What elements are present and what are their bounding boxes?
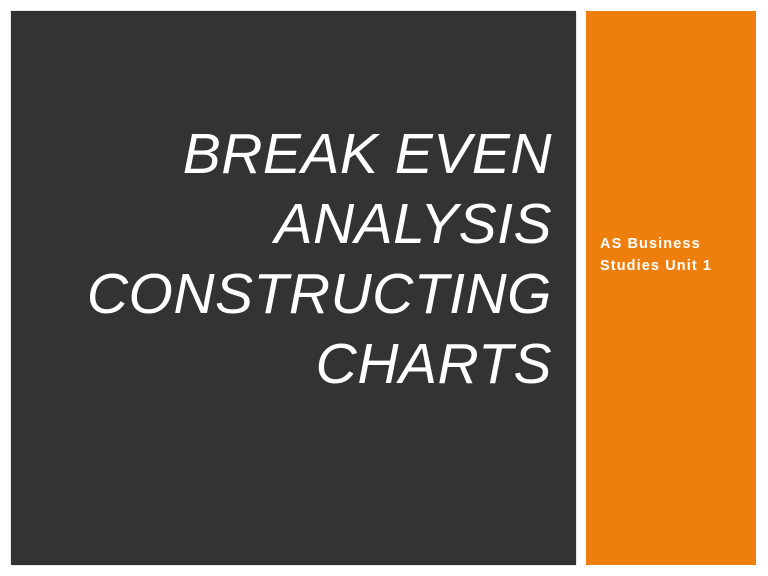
subtitle-line-1: AS Business: [600, 233, 746, 255]
slide-title: BREAK EVEN ANALYSIS CONSTRUCTING CHARTS: [31, 119, 552, 399]
slide-subtitle: AS Business Studies Unit 1: [600, 233, 746, 277]
title-line-1: BREAK EVEN: [31, 119, 552, 189]
title-panel: BREAK EVEN ANALYSIS CONSTRUCTING CHARTS: [11, 11, 576, 565]
title-line-3: CONSTRUCTING: [31, 259, 552, 329]
subtitle-panel: AS Business Studies Unit 1: [586, 11, 756, 565]
title-line-4: CHARTS: [31, 329, 552, 399]
title-line-2: ANALYSIS: [31, 189, 552, 259]
presentation-slide: BREAK EVEN ANALYSIS CONSTRUCTING CHARTS …: [0, 0, 768, 576]
subtitle-line-2: Studies Unit 1: [600, 255, 746, 277]
